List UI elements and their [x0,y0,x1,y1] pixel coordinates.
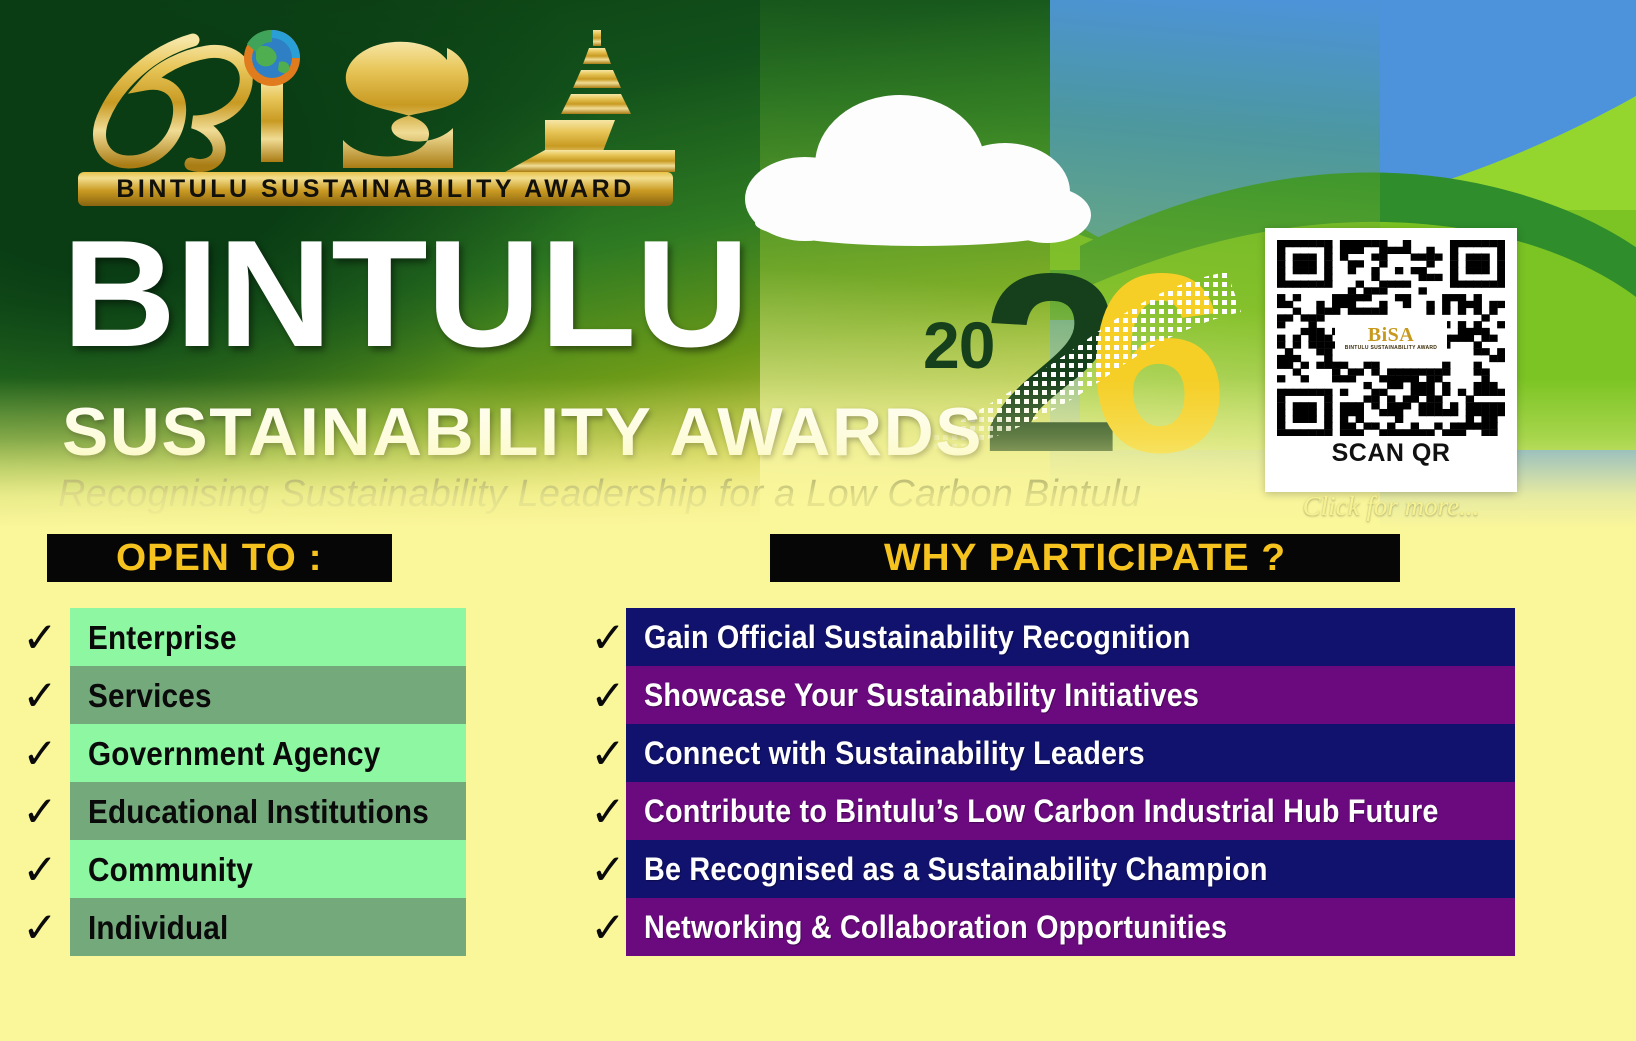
why-participate-row-bar: Be Recognised as a Sustainability Champi… [626,840,1515,898]
open-to-item-label: Community [88,853,253,886]
list-item: ✓Networking & Collaboration Opportunitie… [580,898,1580,956]
why-participate-row-bar: Gain Official Sustainability Recognition [626,608,1515,666]
list-item: ✓Be Recognised as a Sustainability Champ… [580,840,1580,898]
cloud-icon [745,95,1090,235]
open-to-item-label: Government Agency [88,737,380,770]
why-participate-row-bar: Showcase Your Sustainability Initiatives [626,666,1515,724]
open-to-row-bar: Educational Institutions [70,782,466,840]
open-to-item-label: Educational Institutions [88,795,429,828]
open-to-row-bar: Enterprise [70,608,466,666]
list-item: ✓Showcase Your Sustainability Initiative… [580,666,1580,724]
why-participate-row-bar: Connect with Sustainability Leaders [626,724,1515,782]
qr-center-logo-text: BiSA [1368,325,1414,345]
open-to-item-label: Services [88,679,212,712]
open-to-item-label: Enterprise [88,621,237,654]
check-mark-icon: ✓ [12,848,68,892]
list-item: ✓Contribute to Bintulu’s Low Carbon Indu… [580,782,1580,840]
check-mark-icon: ✓ [12,732,68,776]
why-participate-header: WHY PARTICIPATE ? [770,534,1400,582]
check-mark-icon: ✓ [12,790,68,834]
why-participate-item-label: Networking & Collaboration Opportunities [644,911,1227,943]
open-to-row-bar: Government Agency [70,724,466,782]
click-for-more-link[interactable]: Click for more... [1265,490,1517,522]
logo-name-plate: BINTULU SUSTAINABILITY AWARD [78,172,673,206]
why-participate-row-bar: Contribute to Bintulu’s Low Carbon Indus… [626,782,1515,840]
qr-card[interactable]: BiSA BINTULU SUSTAINABILITY AWARD SCAN Q… [1265,228,1517,492]
list-item: ✓Services [0,666,520,724]
check-mark-icon: ✓ [580,848,636,892]
qr-center-logo: BiSA BINTULU SUSTAINABILITY AWARD [1335,320,1447,356]
list-item: ✓Educational Institutions [0,782,520,840]
qr-code-icon[interactable]: BiSA BINTULU SUSTAINABILITY AWARD [1277,240,1505,436]
page-title: BINTULU [62,218,748,370]
open-to-row-bar: Community [70,840,466,898]
qr-center-logo-sub: BINTULU SUSTAINABILITY AWARD [1345,345,1437,352]
check-mark-icon: ✓ [12,674,68,718]
bisa-logo: BINTULU SUSTAINABILITY AWARD [75,22,675,214]
poster-root: 2 6 20 [0,0,1636,1041]
open-to-row-bar: Services [70,666,466,724]
check-mark-icon: ✓ [580,674,636,718]
list-item: ✓Gain Official Sustainability Recognitio… [580,608,1580,666]
check-mark-icon: ✓ [12,616,68,660]
why-participate-item-label: Gain Official Sustainability Recognition [644,621,1190,653]
bisa-logo-mark [75,22,675,172]
check-mark-icon: ✓ [12,906,68,950]
scan-qr-caption: SCAN QR [1277,436,1505,470]
list-item: ✓Connect with Sustainability Leaders [580,724,1580,782]
list-item: ✓Community [0,840,520,898]
open-to-row-bar: Individual [70,898,466,956]
check-mark-icon: ✓ [580,790,636,834]
year-prefix: 20 [923,312,994,378]
list-item: ✓Enterprise [0,608,520,666]
why-participate-item-label: Showcase Your Sustainability Initiatives [644,679,1199,711]
why-participate-item-label: Be Recognised as a Sustainability Champi… [644,853,1268,885]
check-mark-icon: ✓ [580,906,636,950]
open-to-item-label: Individual [88,911,228,944]
list-item: ✓Individual [0,898,520,956]
globe-sustainability-icon [244,30,300,86]
open-to-list: ✓Enterprise✓Services✓Government Agency✓E… [0,608,520,956]
logo-plate-text: BINTULU SUSTAINABILITY AWARD [116,175,634,204]
why-participate-item-label: Contribute to Bintulu’s Low Carbon Indus… [644,795,1439,827]
why-participate-item-label: Connect with Sustainability Leaders [644,737,1145,769]
why-participate-list: ✓Gain Official Sustainability Recognitio… [580,608,1580,956]
why-participate-row-bar: Networking & Collaboration Opportunities [626,898,1515,956]
list-item: ✓Government Agency [0,724,520,782]
open-to-header: OPEN TO : [47,534,392,582]
check-mark-icon: ✓ [580,616,636,660]
check-mark-icon: ✓ [580,732,636,776]
open-to-header-text: OPEN TO : [116,539,323,577]
why-participate-header-text: WHY PARTICIPATE ? [884,539,1286,577]
